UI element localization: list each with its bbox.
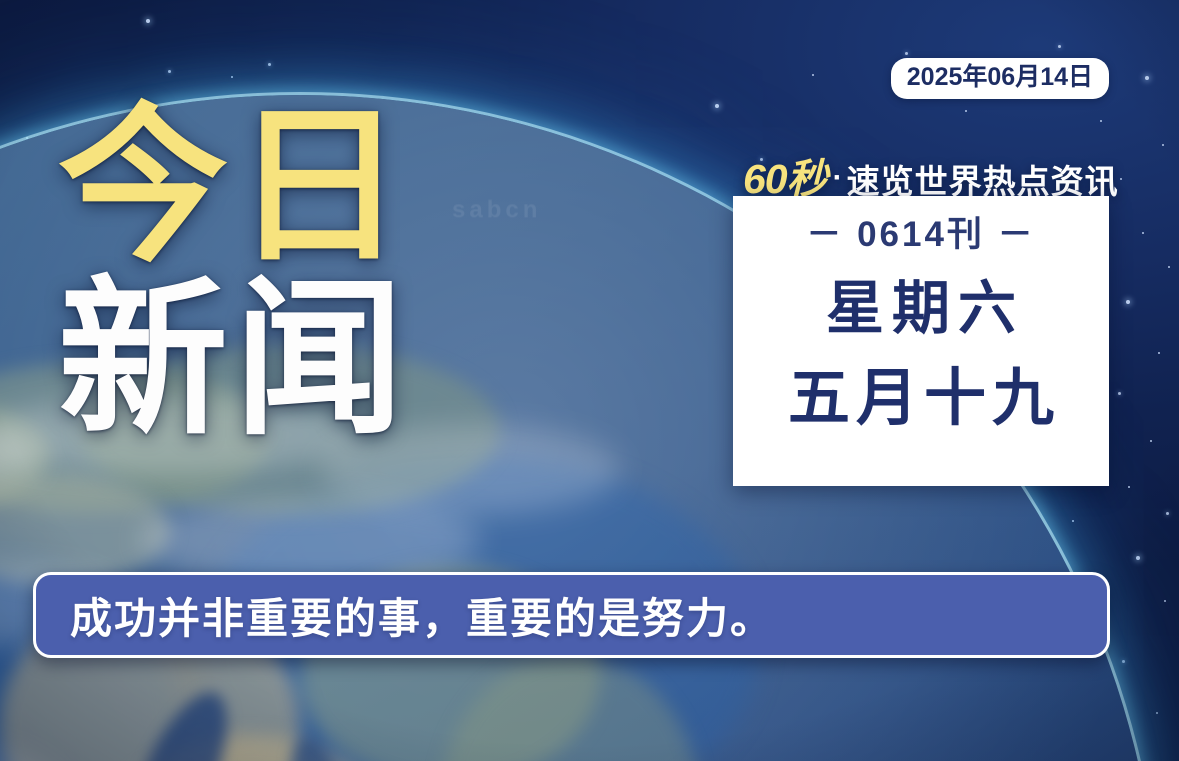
date-card: － 0614刊 － 星期六 五月十九 — [733, 196, 1109, 486]
weekday-label: 星期六 — [818, 280, 1024, 338]
issue-number: － 0614刊 － — [806, 214, 1035, 256]
date-badge: 2025年06月14日 — [891, 58, 1109, 99]
news-poster: sabcn 今日 新闻 2025年06月14日 60秒·速览世界热点资讯 － 0… — [0, 0, 1179, 761]
lunar-date-label: 五月十九 — [782, 368, 1060, 430]
tagline-text: 速览世界热点资讯 — [847, 163, 1119, 200]
tagline-separator: · — [833, 161, 844, 194]
quote-text: 成功并非重要的事，重要的是努力。 — [70, 585, 774, 646]
page-title-line2: 新闻 — [58, 277, 528, 444]
page-title: 今日 新闻 — [58, 104, 528, 443]
quote-bar: 成功并非重要的事，重要的是努力。 — [33, 572, 1110, 658]
page-title-line1: 今日 — [58, 104, 528, 271]
